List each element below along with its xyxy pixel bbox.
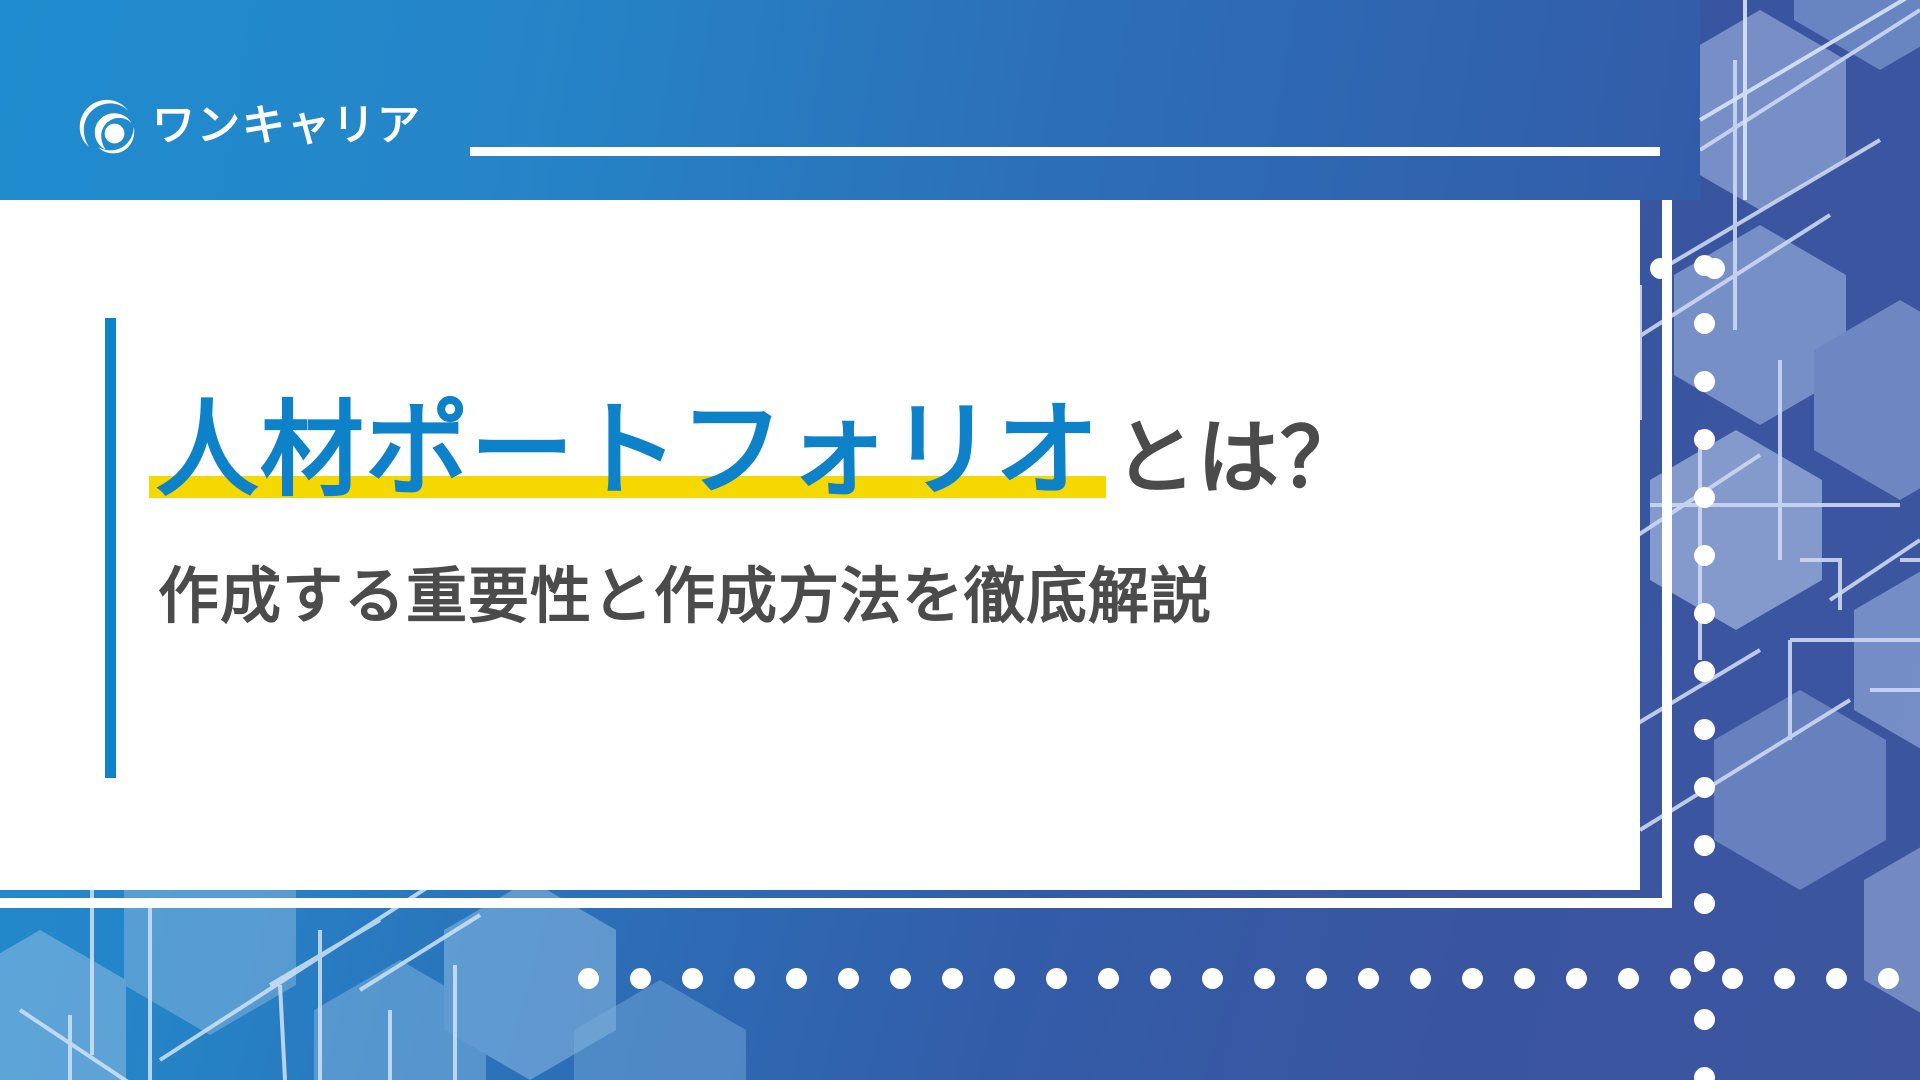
decorative-dot bbox=[1202, 968, 1223, 989]
decorative-dot bbox=[890, 968, 911, 989]
swirl-spiral-icon bbox=[78, 97, 136, 155]
decorative-dot bbox=[1722, 968, 1743, 989]
decorative-dot bbox=[578, 968, 599, 989]
decorative-dot bbox=[1694, 313, 1715, 334]
decorative-dot bbox=[1462, 968, 1483, 989]
decorative-dot bbox=[1670, 968, 1691, 989]
decorative-dot bbox=[630, 968, 651, 989]
decorative-dot bbox=[1694, 1067, 1715, 1080]
decorative-dot bbox=[1694, 835, 1715, 856]
brand-name: ワンキャリア bbox=[152, 105, 422, 148]
decorative-dot bbox=[734, 968, 755, 989]
decorative-dot bbox=[1694, 893, 1715, 914]
brand-logo[interactable]: ワンキャリア bbox=[78, 95, 422, 157]
title-highlighted-part: 人材ポートフォリオ bbox=[155, 398, 1100, 502]
decorative-dot bbox=[1774, 968, 1795, 989]
dot-row-bottom bbox=[578, 968, 1920, 989]
decorative-dot bbox=[1694, 603, 1715, 624]
decorative-dot bbox=[1704, 258, 1725, 279]
decorative-dot bbox=[994, 968, 1015, 989]
decorative-dot bbox=[1650, 258, 1671, 279]
title-accent-bar bbox=[105, 318, 116, 778]
decorative-dot bbox=[1694, 545, 1715, 566]
header-rule bbox=[470, 147, 1660, 156]
decorative-dot bbox=[1694, 1009, 1715, 1030]
decorative-dot bbox=[1694, 429, 1715, 450]
page-title: 人材ポートフォリオとは？ bbox=[155, 398, 1363, 502]
decorative-dot bbox=[682, 968, 703, 989]
decorative-dot bbox=[1566, 968, 1587, 989]
dot-column-right bbox=[1694, 255, 1715, 1080]
decorative-dot bbox=[1098, 968, 1119, 989]
slide-canvas: ワンキャリア 人材ポートフォリオとは？ 作成する重要性と作成方法を徹底解説 bbox=[0, 0, 1920, 1080]
decorative-dot bbox=[838, 968, 859, 989]
content-card bbox=[0, 200, 1640, 890]
decorative-dot bbox=[1514, 968, 1535, 989]
decorative-dot bbox=[1618, 968, 1639, 989]
decorative-dot bbox=[942, 968, 963, 989]
decorative-dot bbox=[1046, 968, 1067, 989]
decorative-dot bbox=[1694, 719, 1715, 740]
decorative-dot bbox=[1878, 968, 1899, 989]
decorative-dot bbox=[1150, 968, 1171, 989]
decorative-dot bbox=[1694, 661, 1715, 682]
decorative-dot bbox=[786, 968, 807, 989]
title-tail-part: とは？ bbox=[1114, 418, 1363, 500]
decorative-dot bbox=[1410, 968, 1431, 989]
decorative-dot bbox=[1254, 968, 1275, 989]
page-subtitle: 作成する重要性と作成方法を徹底解説 bbox=[158, 560, 1212, 633]
decorative-dot bbox=[1694, 777, 1715, 798]
decorative-dot bbox=[1826, 968, 1847, 989]
decorative-dot bbox=[1306, 968, 1327, 989]
decorative-dot bbox=[1694, 487, 1715, 508]
decorative-dot bbox=[1694, 371, 1715, 392]
decorative-dot bbox=[1358, 968, 1379, 989]
